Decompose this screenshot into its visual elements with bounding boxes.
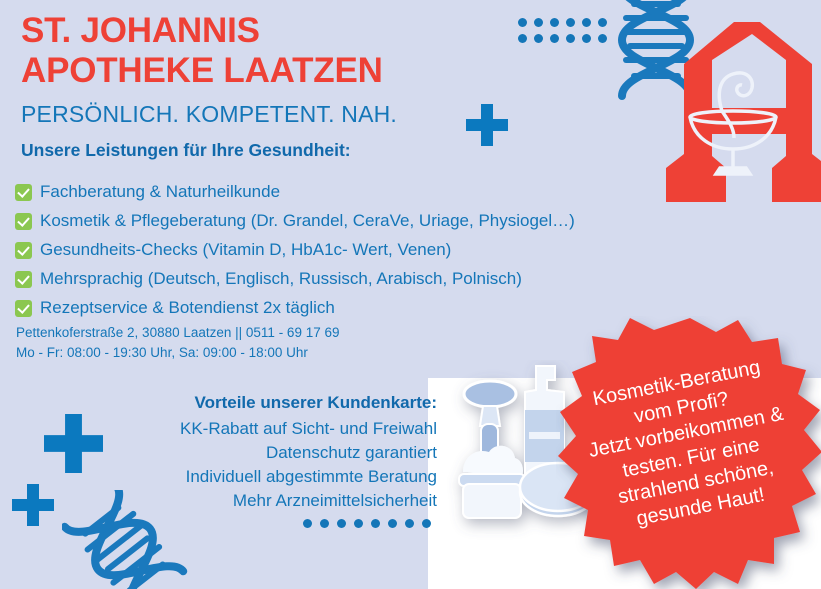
dot: [566, 18, 575, 27]
check-icon: [15, 213, 32, 230]
check-icon: [15, 271, 32, 288]
list-item: Gesundheits-Checks (Vitamin D, HbA1c- We…: [15, 238, 695, 262]
dot-row-icon: [303, 519, 431, 528]
benefits-heading: Vorteile unserer Kundenkarte:: [60, 393, 437, 413]
dot: [518, 18, 527, 27]
dot: [388, 519, 397, 528]
opening-hours-text: Mo - Fr: 08:00 - 19:30 Uhr, Sa: 09:00 - …: [16, 343, 340, 363]
plus-icon: [12, 484, 54, 526]
tagline: PERSÖNLICH. KOMPETENT. NAH.: [21, 101, 491, 128]
check-icon: [15, 242, 32, 259]
dot: [354, 519, 363, 528]
dot: [534, 18, 543, 27]
dot: [566, 34, 575, 43]
promo-badge-text: Kosmetik-Beratung vom Profi? Jetzt vorbe…: [532, 293, 821, 589]
dot: [550, 34, 559, 43]
dot: [422, 519, 431, 528]
service-label: Fachberatung & Naturheilkunde: [40, 182, 280, 202]
service-label: Kosmetik & Pflegeberatung (Dr. Grandel, …: [40, 211, 575, 231]
dot: [320, 519, 329, 528]
headline-block: ST. JOHANNIS APOTHEKE LAATZEN PERSÖNLICH…: [21, 11, 491, 161]
benefit-item: Individuell abgestimmte Beratung: [60, 465, 437, 489]
benefit-item: KK-Rabatt auf Sicht- und Freiwahl: [60, 417, 437, 441]
dot: [371, 519, 380, 528]
promo-badge[interactable]: Kosmetik-Beratung vom Profi? Jetzt vorbe…: [556, 316, 821, 589]
dot-grid-icon: [518, 18, 607, 43]
poster-canvas: ST. JOHANNIS APOTHEKE LAATZEN PERSÖNLICH…: [0, 0, 821, 589]
service-label: Mehrsprachig (Deutsch, Englisch, Russisc…: [40, 269, 522, 289]
dot: [534, 34, 543, 43]
page-title-line1: ST. JOHANNIS: [21, 11, 491, 51]
benefit-item: Mehr Arzneimittelsicherheit: [60, 489, 437, 513]
list-item: Fachberatung & Naturheilkunde: [15, 180, 695, 204]
list-item: Kosmetik & Pflegeberatung (Dr. Grandel, …: [15, 209, 695, 233]
dot: [550, 18, 559, 27]
address-text: Pettenkoferstraße 2, 30880 Laatzen || 05…: [16, 323, 340, 343]
services-list: Fachberatung & Naturheilkunde Kosmetik &…: [15, 180, 695, 325]
check-icon: [15, 300, 32, 317]
dot: [582, 34, 591, 43]
check-icon: [15, 184, 32, 201]
customer-card-benefits: Vorteile unserer Kundenkarte: KK-Rabatt …: [60, 393, 437, 514]
services-heading: Unsere Leistungen für Ihre Gesundheit:: [21, 140, 491, 161]
service-label: Gesundheits-Checks (Vitamin D, HbA1c- We…: [40, 240, 451, 260]
service-label: Rezeptservice & Botendienst 2x täglich: [40, 298, 335, 318]
dot: [303, 519, 312, 528]
pharmacy-a-logo-icon: [660, 16, 821, 206]
dot: [518, 34, 527, 43]
page-title-line2: APOTHEKE LAATZEN: [21, 51, 491, 91]
dot: [582, 18, 591, 27]
dot: [337, 519, 346, 528]
contact-block: Pettenkoferstraße 2, 30880 Laatzen || 05…: [16, 323, 340, 362]
dot: [405, 519, 414, 528]
list-item: Mehrsprachig (Deutsch, Englisch, Russisc…: [15, 267, 695, 291]
benefit-item: Datenschutz garantiert: [60, 441, 437, 465]
